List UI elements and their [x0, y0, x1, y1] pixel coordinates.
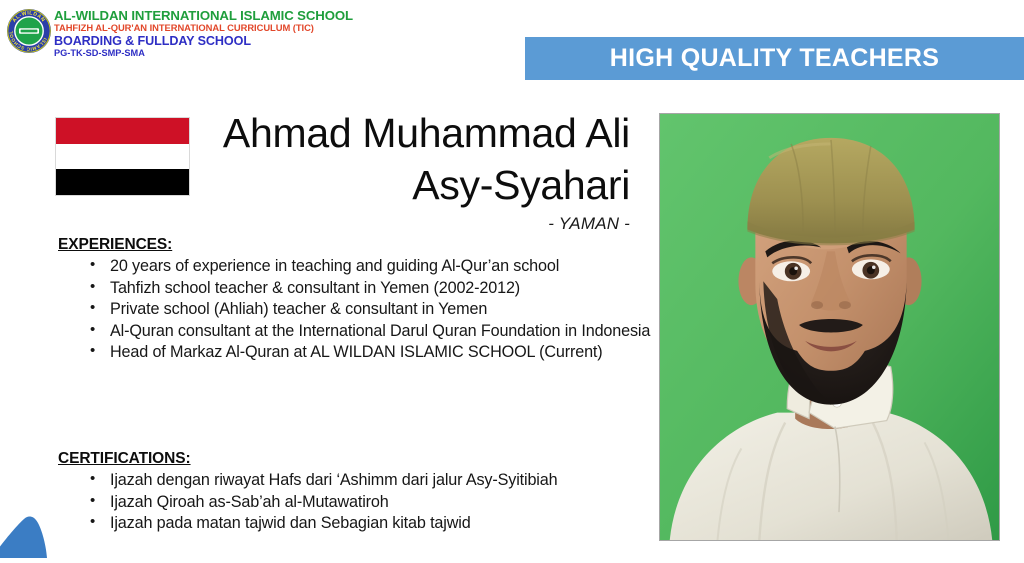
school-curriculum: TAHFIZH AL-QUR'AN INTERNATIONAL CURRICUL… — [54, 23, 353, 33]
teacher-photo — [659, 113, 1000, 541]
list-item: Tahfizh school teacher & consultant in Y… — [58, 278, 658, 300]
yemen-flag-icon — [55, 117, 190, 196]
teacher-name-block: Ahmad Muhammad Ali Asy-Syahari - YAMAN - — [200, 107, 630, 234]
school-levels: PG-TK-SD-SMP-SMA — [54, 49, 353, 58]
list-item: Private school (Ahliah) teacher & consul… — [58, 299, 658, 321]
flag-band-black — [56, 169, 189, 195]
experiences-list: 20 years of experience in teaching and g… — [58, 256, 658, 364]
experiences-section: EXPERIENCES: 20 years of experience in t… — [58, 236, 658, 364]
teacher-name-line-1: Ahmad Muhammad Ali — [200, 107, 630, 159]
certifications-section: CERTIFICATIONS: Ijazah dengan riwayat Ha… — [58, 450, 658, 535]
slide-title-banner: HIGH QUALITY TEACHERS — [525, 37, 1024, 80]
certifications-list: Ijazah dengan riwayat Hafs dari ‘Ashimm … — [58, 470, 658, 535]
list-item: Ijazah dengan riwayat Hafs dari ‘Ashimm … — [58, 470, 658, 492]
list-item: 20 years of experience in teaching and g… — [58, 256, 658, 278]
flag-band-red — [56, 118, 189, 144]
teacher-name-line-2: Asy-Syahari — [200, 159, 630, 211]
teacher-country: - YAMAN - — [200, 214, 630, 234]
school-logo-icon: AL-WILDAN ISLAMIC SCHOOL — [6, 8, 52, 54]
flag-band-white — [56, 144, 189, 170]
school-type: BOARDING & FULLDAY SCHOOL — [54, 35, 353, 48]
list-item: Head of Markaz Al-Quran at AL WILDAN ISL… — [58, 342, 658, 364]
school-name: AL-WILDAN INTERNATIONAL ISLAMIC SCHOOL — [54, 9, 353, 22]
list-item: Ijazah pada matan tajwid dan Sebagian ki… — [58, 513, 658, 535]
list-item: Al-Quran consultant at the International… — [58, 321, 658, 343]
slide-title: HIGH QUALITY TEACHERS — [610, 44, 939, 73]
list-item: Ijazah Qiroah as-Sab’ah al-Mutawatiroh — [58, 492, 658, 514]
certifications-title: CERTIFICATIONS: — [58, 450, 658, 468]
experiences-title: EXPERIENCES: — [58, 236, 658, 254]
school-header-text: AL-WILDAN INTERNATIONAL ISLAMIC SCHOOL T… — [54, 9, 353, 58]
blue-triangle-decoration-icon — [0, 508, 48, 558]
